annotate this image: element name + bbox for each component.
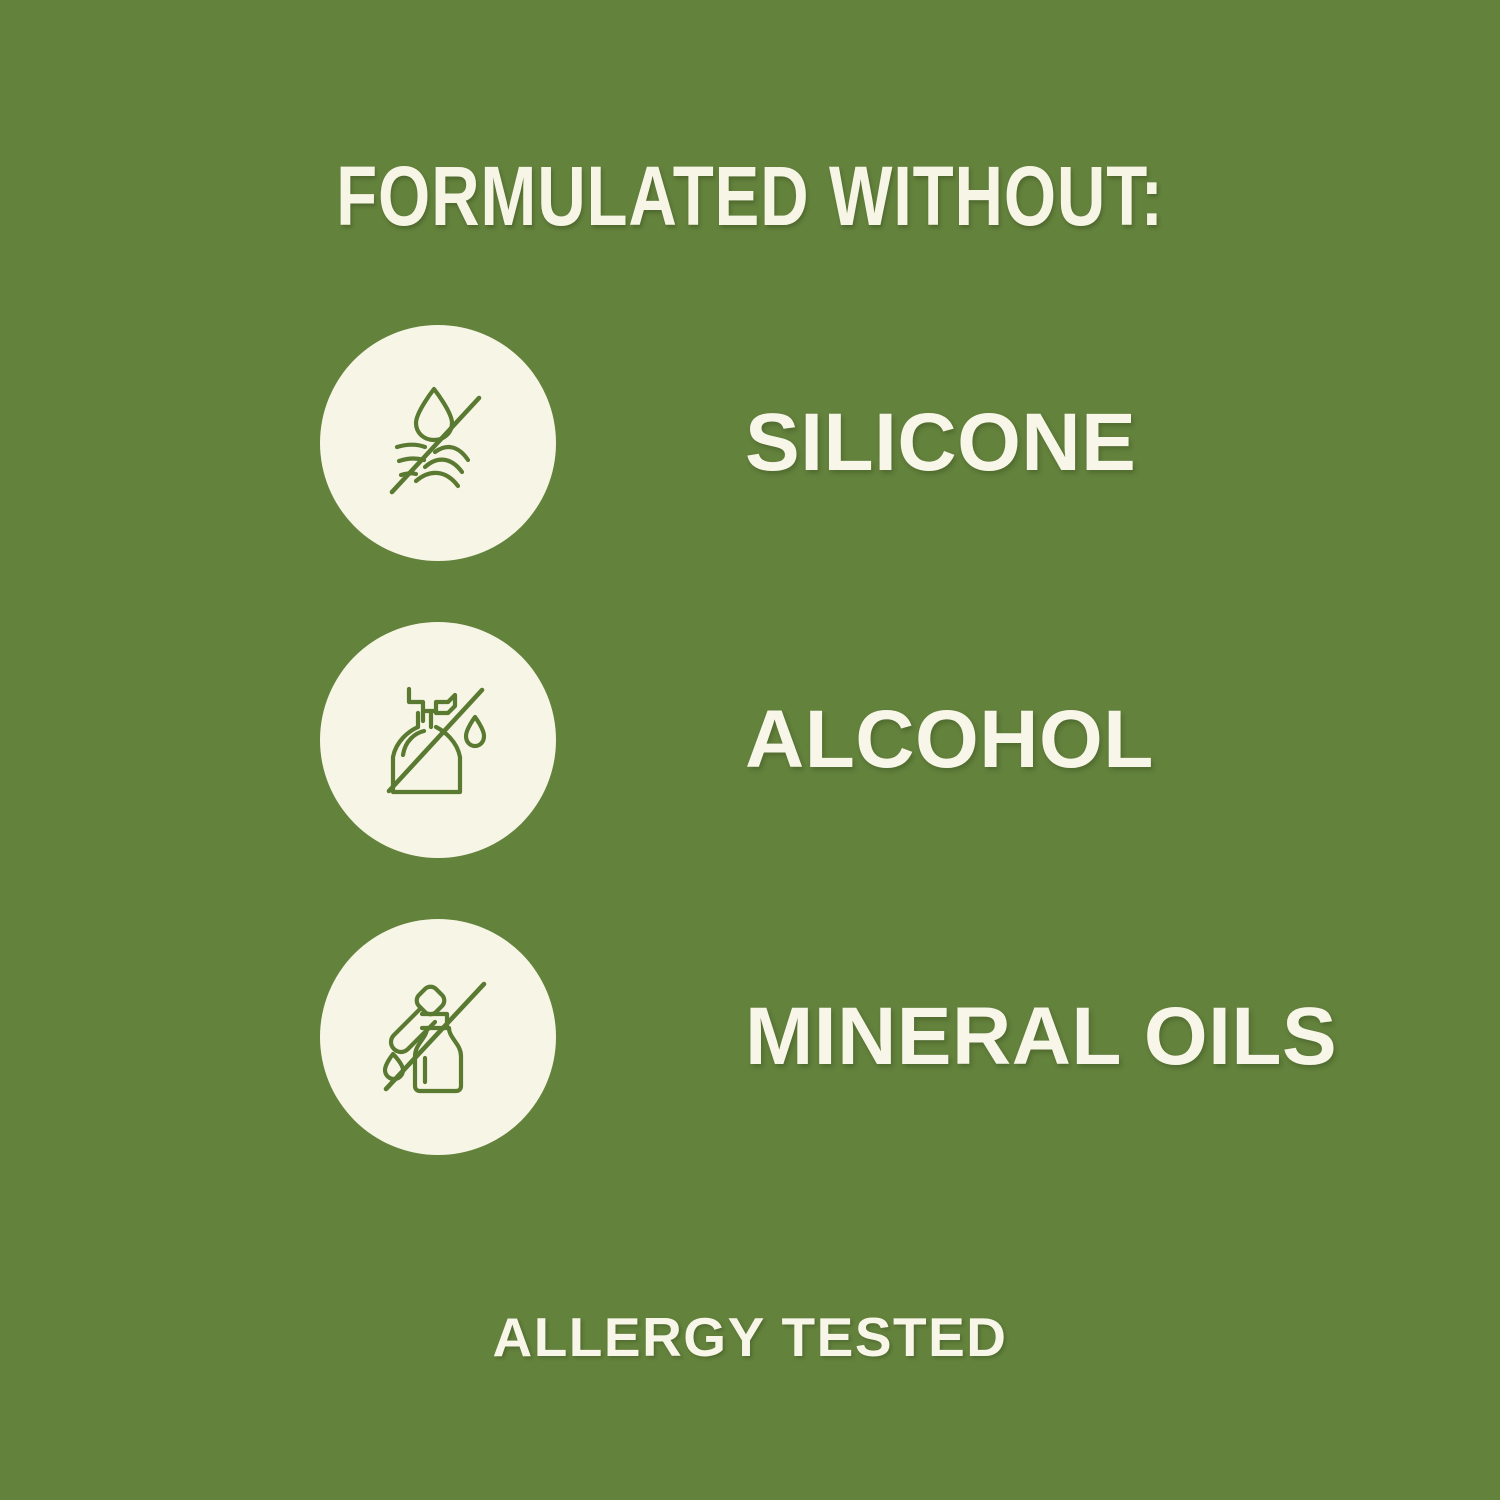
no-alcohol-icon bbox=[363, 665, 513, 815]
list-item: ALCOHOL bbox=[0, 622, 1500, 858]
formulated-without-infographic: FORMULATED WITHOUT: bbox=[0, 0, 1500, 1500]
page-title: FORMULATED WITHOUT: bbox=[150, 148, 1350, 245]
no-mineral-oils-icon bbox=[363, 962, 513, 1112]
no-silicone-badge bbox=[320, 325, 556, 561]
allergy-tested-claim: ALLERGY TESTED bbox=[0, 1305, 1500, 1369]
list-item: SILICONE bbox=[0, 325, 1500, 561]
no-mineral-oils-badge bbox=[320, 919, 556, 1155]
no-alcohol-badge bbox=[320, 622, 556, 858]
list-item-label: ALCOHOL bbox=[745, 622, 1154, 858]
no-silicone-icon bbox=[363, 368, 513, 518]
list-item-label: SILICONE bbox=[745, 325, 1136, 561]
list-item-label: MINERAL OILS bbox=[745, 919, 1337, 1155]
claims-list: SILICONE bbox=[0, 325, 1500, 1216]
list-item: MINERAL OILS bbox=[0, 919, 1500, 1155]
